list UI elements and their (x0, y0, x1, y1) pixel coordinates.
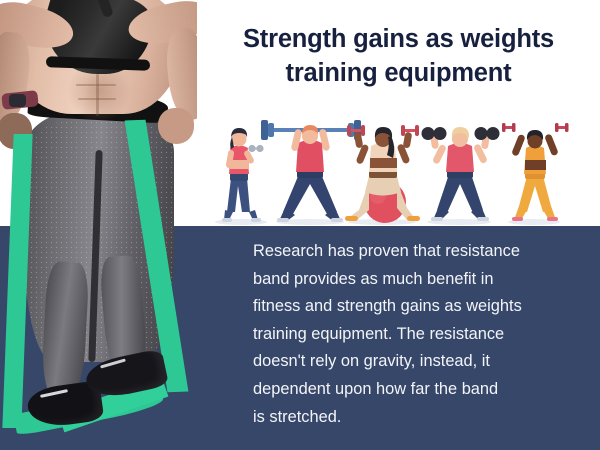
description-line: training equipment. The resistance (253, 321, 583, 349)
description-line: band provides as much benefit in (253, 266, 583, 294)
hand-weight-left (502, 123, 516, 132)
banner-title-line-2: training equipment (197, 56, 600, 90)
abdomen-shading (68, 70, 130, 122)
description-line: dependent upon how far the band (253, 376, 583, 404)
description-line: Research has proven that resistance (253, 238, 583, 266)
watch-face (9, 94, 26, 107)
figure-woman-with-dumbbell (222, 128, 264, 222)
description-line: doesn't rely on gravity, instead, it (253, 348, 583, 376)
ab-line-lower (78, 98, 116, 100)
hero-photo (0, 0, 197, 450)
banner-title: Strength gains as weights training equip… (197, 22, 600, 90)
figure-man-with-barbell (261, 120, 361, 222)
product-banner: Strength gains as weights training equip… (0, 0, 600, 450)
ab-line-upper (76, 84, 116, 86)
description-text: Research has proven that resistance band… (253, 238, 583, 431)
description-line: is stretched. (253, 404, 583, 432)
training-figures-illustration (197, 112, 600, 226)
figures-svg (197, 112, 600, 226)
barbell-plate-left (261, 120, 274, 140)
figure-woman-with-dumbbells (422, 127, 500, 221)
figure-woman-on-exercise-ball (345, 125, 420, 223)
banner-title-line-1: Strength gains as weights (197, 22, 600, 56)
ab-line-center (96, 74, 99, 116)
figure-woman-arms-raised (502, 123, 569, 221)
right-hand-grip (158, 108, 194, 144)
description-panel: Research has proven that resistance band… (197, 226, 600, 450)
description-line: fitness and strength gains as weights (253, 293, 583, 321)
hand-weight-right (555, 123, 569, 132)
dumbbell-1 (248, 145, 263, 152)
